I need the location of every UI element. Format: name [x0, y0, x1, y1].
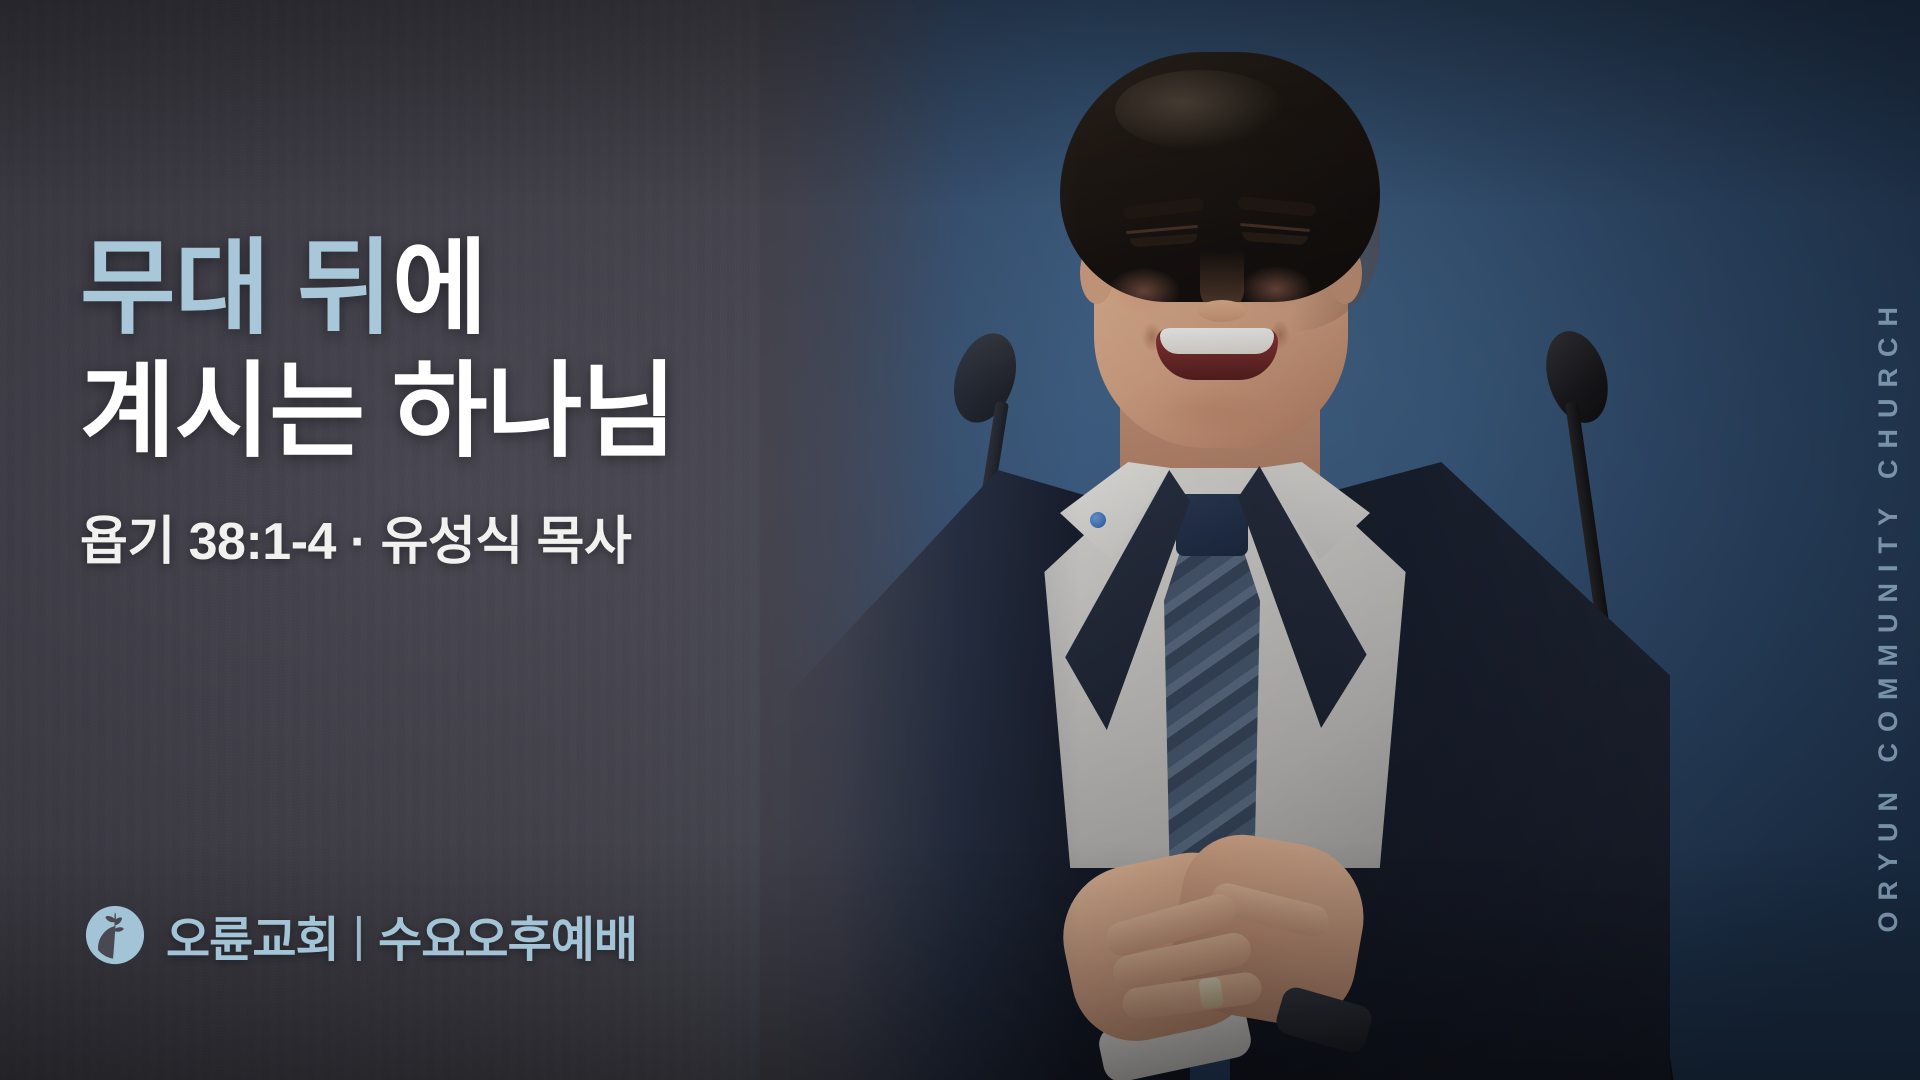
church-name: 오륜교회 [166, 900, 339, 970]
vertical-church-name: ORYUN COMMUNITY CHURCH [1873, 296, 1904, 933]
title-line-1-highlight: 무대 뒤 [80, 231, 392, 347]
title-line-1: 무대 뒤에 [80, 228, 960, 351]
sermon-title-card: ORYUN COMMUNITY CHURCH 무대 뒤에 계시는 하나님 욥기 … [0, 0, 1920, 1080]
church-sprout-logo-icon [84, 904, 146, 966]
footer-divider: | [353, 908, 364, 963]
footer-branding: 오륜교회 | 수요오후예배 [84, 900, 637, 970]
title-line-2: 계시는 하나님 [80, 351, 960, 474]
service-name: 수요오후예배 [378, 900, 637, 970]
footer-text: 오륜교회 | 수요오후예배 [166, 900, 637, 970]
top-shadow-overlay [0, 0, 1920, 210]
sermon-subtitle: 욥기 38:1-4 · 유성식 목사 [80, 499, 960, 574]
sermon-title-block: 무대 뒤에 계시는 하나님 욥기 38:1-4 · 유성식 목사 [80, 228, 960, 574]
title-line-1-rest: 에 [392, 231, 487, 347]
